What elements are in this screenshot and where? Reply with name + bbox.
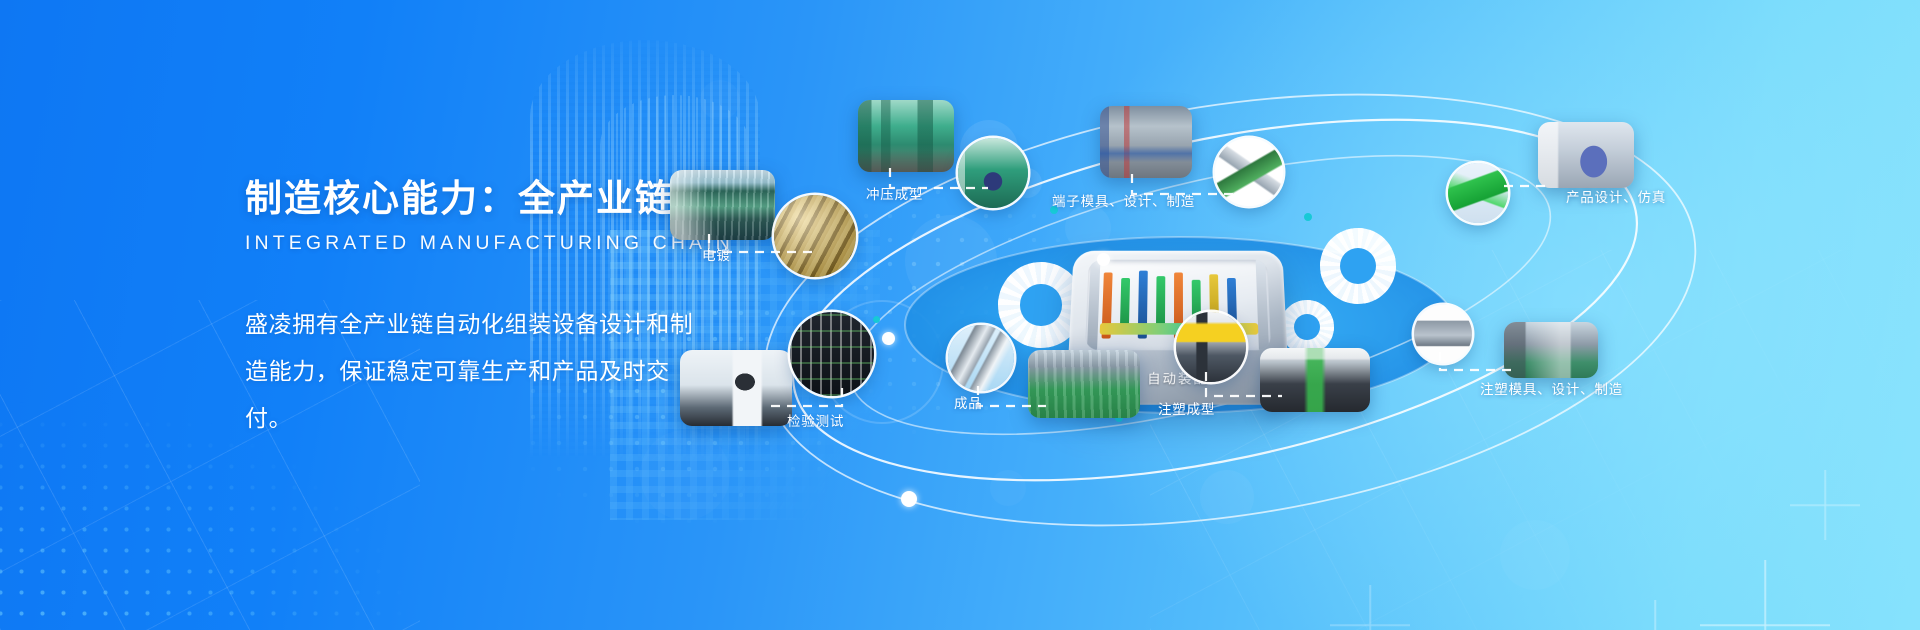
page-description: 盛凌拥有全产业链自动化组装设备设计和制造能力，保证稳定可靠生产和产品及时交付。	[245, 301, 700, 442]
node-label-electroplating: 电镀	[702, 244, 731, 264]
hero-text-block: 制造核心能力：全产业链 INTEGRATED MANUFACTURING CHA…	[245, 178, 715, 442]
connector-finished-goods	[974, 382, 1054, 422]
node-label-terminal-mold: 端子模具、设计、制造	[1052, 190, 1195, 210]
page-subtitle: INTEGRATED MANUFACTURING CHAIN	[245, 232, 715, 255]
orbit-dot-top	[1097, 253, 1110, 266]
node-label-inspection-test: 检验测试	[787, 410, 844, 430]
connector-product-design	[1502, 176, 1558, 198]
gear-icon-medium	[1320, 228, 1396, 304]
connector-injection-form	[1202, 366, 1292, 412]
orbit-paths	[760, 0, 1920, 630]
node-label-injection-mold: 注塑模具、设计、制造	[1480, 378, 1623, 398]
gear-icon-small	[1280, 300, 1334, 354]
node-label-product-design: 产品设计、仿真	[1566, 186, 1666, 206]
node-icon-product-design[interactable]	[1448, 163, 1508, 223]
node-label-injection-form: 注塑成型	[1158, 398, 1215, 418]
orbit-dot-lower-left	[901, 491, 917, 507]
hero-banner: 制造核心能力：全产业链 INTEGRATED MANUFACTURING CHA…	[0, 0, 1920, 630]
orbit-dot-left	[882, 332, 895, 345]
manufacturing-chain-diagram: 自动装配 电镀	[760, 0, 1920, 630]
node-label-finished-goods: 成品	[954, 392, 983, 412]
teal-accent-dot-2	[873, 316, 880, 323]
teal-accent-dot-4	[1304, 213, 1312, 221]
node-label-stamping: 冲压成型	[866, 183, 923, 203]
page-title: 制造核心能力：全产业链	[245, 178, 715, 221]
